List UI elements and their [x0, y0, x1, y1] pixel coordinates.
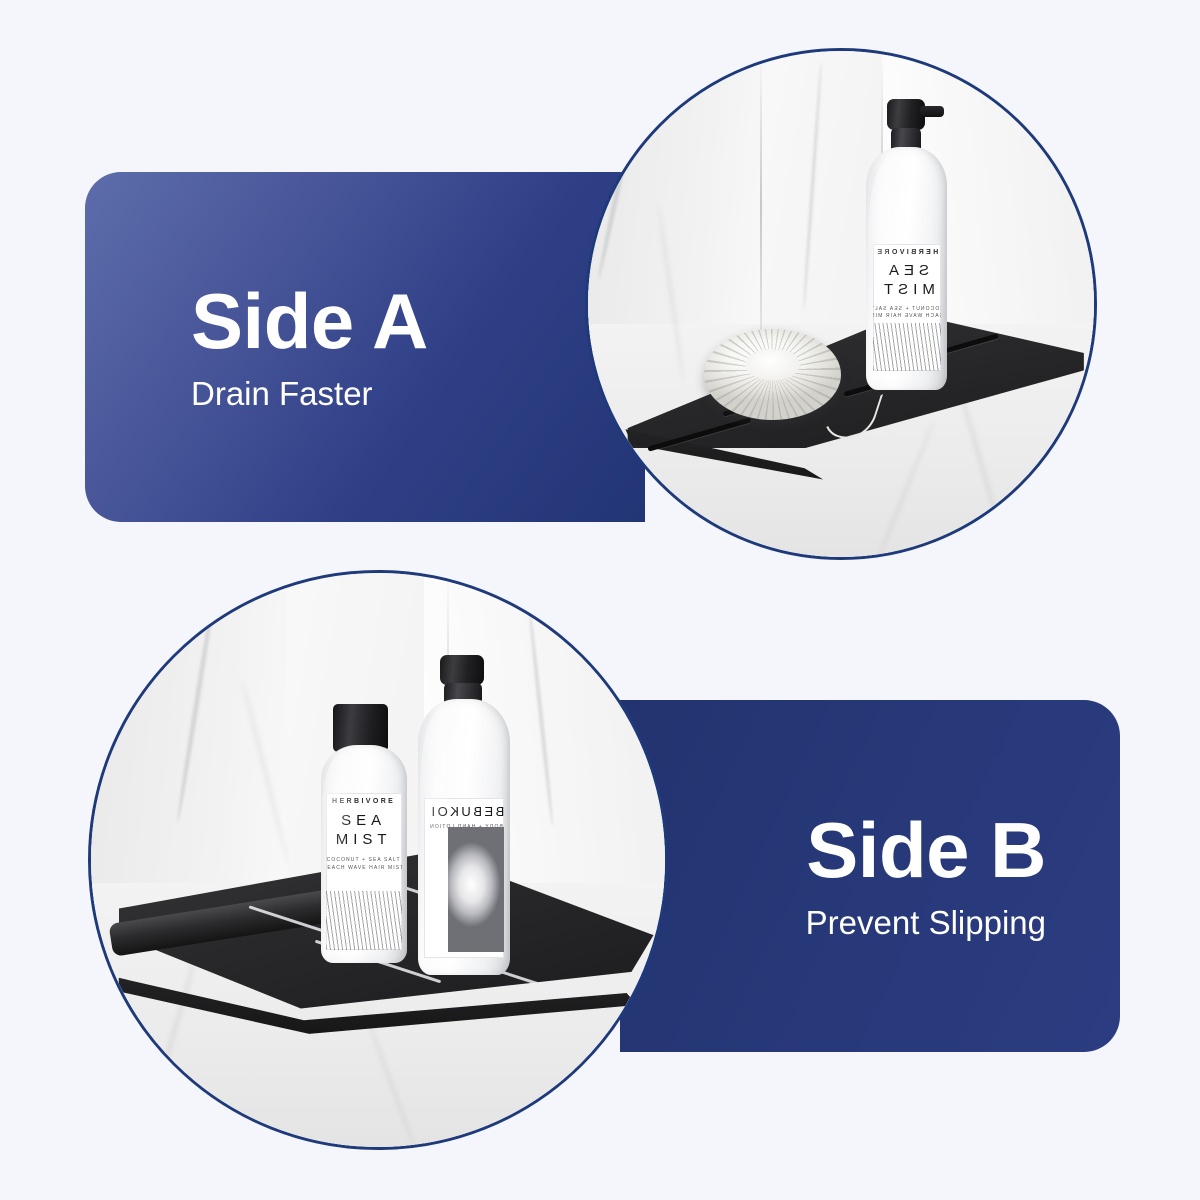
- bottle-label: BEBUKOI LIGHTWEIGHT BODY + HAND LOTION: [424, 798, 505, 958]
- side-a-title: Side A: [191, 282, 428, 360]
- flip-cap-bottle-sea-mist: HERBIVORE SEA MIST COCONUT + SEA SALT BE…: [321, 745, 407, 963]
- label-name-line-1: SEA: [341, 812, 386, 831]
- label-brand: BEBUKOI: [429, 804, 504, 820]
- ridged-soap-puck: [704, 329, 841, 420]
- side-b-scene: HERBIVORE SEA MIST COCONUT + SEA SALT BE…: [91, 573, 665, 1147]
- bottle-label: HERBIVORE SEA MIST COCONUT + SEA SALT BE…: [326, 793, 402, 950]
- side-a-banner: Side A Drain Faster: [85, 172, 645, 522]
- label-name-line-2: MIST: [336, 831, 392, 850]
- label-name-line-2: MIST: [879, 281, 935, 300]
- label-wave-artwork: [326, 891, 402, 951]
- side-b-banner: Side B Prevent Slipping: [620, 700, 1120, 1052]
- side-a-photo: HERBIVORE SEA MIST COCONUT + SEA SALT BE…: [585, 48, 1097, 560]
- label-tagline-1: COCONUT + SEA SALT: [327, 857, 401, 865]
- label-brand: HERBIVORE: [875, 249, 938, 256]
- side-a-subtitle: Drain Faster: [191, 376, 373, 412]
- label-tagline-2: BEACH WAVE HAIR MIST: [873, 313, 941, 321]
- side-b-title: Side B: [806, 811, 1046, 889]
- side-b-photo: HERBIVORE SEA MIST COCONUT + SEA SALT BE…: [88, 570, 668, 1150]
- label-rose-artwork: [448, 827, 505, 952]
- label-brand: HERBIVORE: [332, 798, 395, 805]
- label-wave-artwork: [873, 323, 941, 371]
- bottle-label: HERBIVORE SEA MIST COCONUT + SEA SALT BE…: [873, 244, 941, 370]
- side-a-scene: HERBIVORE SEA MIST COCONUT + SEA SALT BE…: [588, 51, 1094, 557]
- label-tagline-2: BEACH WAVE HAIR MIST: [326, 865, 402, 873]
- infographic-canvas: Side A Drain Faster: [0, 0, 1200, 1200]
- pump-bottle-sea-mist: HERBIVORE SEA MIST COCONUT + SEA SALT BE…: [866, 147, 947, 390]
- pump-nozzle: [920, 106, 944, 117]
- pump-cap: [887, 99, 924, 131]
- label-name-line-1: SEA: [884, 262, 929, 281]
- pump-cap: [440, 655, 484, 685]
- pump-bottle-bebukoi: BEBUKOI LIGHTWEIGHT BODY + HAND LOTION: [418, 699, 510, 975]
- side-b-subtitle: Prevent Slipping: [806, 905, 1046, 941]
- label-tagline-1: COCONUT + SEA SALT: [873, 306, 941, 314]
